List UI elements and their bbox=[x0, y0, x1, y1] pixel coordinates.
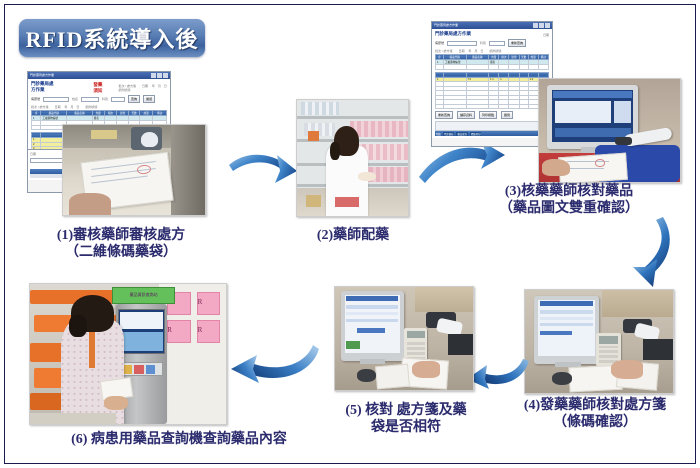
cell bbox=[538, 65, 548, 70]
pharmacist-dispensing-photo bbox=[296, 99, 409, 217]
cell bbox=[443, 104, 466, 109]
dept-label: 科別 bbox=[102, 97, 108, 101]
form-meta-line: 批次 / 處方箋 日期 年 月 日 調劑狀態 bbox=[435, 49, 549, 53]
cell bbox=[499, 65, 509, 70]
save-button[interactable]: 儲存資料 bbox=[457, 111, 475, 119]
table-body[interactable]: 1 7.0 1 1 1 1.0 bbox=[436, 77, 549, 109]
cell bbox=[436, 104, 444, 109]
prescription-paper-photo bbox=[62, 124, 206, 216]
table-body[interactable]: 1 工複藥物編號 藥名 bbox=[436, 60, 549, 70]
dept-input[interactable] bbox=[111, 97, 125, 102]
monitor-scanner-photo bbox=[538, 78, 681, 183]
cell bbox=[489, 65, 499, 70]
caption-step-1: (1)審核藥師審核處方 （二維條碼藥袋） bbox=[31, 227, 211, 261]
cell bbox=[509, 104, 519, 109]
slide-canvas: RFID系統導入後 門診藥局處方作業 門診藥局處方作業 發藥須知 批次 / 處方… bbox=[4, 4, 696, 464]
detail-panel bbox=[435, 121, 549, 131]
patient-input[interactable] bbox=[43, 97, 69, 102]
taskbar-item[interactable]: 藥品查詢 bbox=[456, 132, 468, 136]
cell bbox=[519, 104, 528, 109]
patient-kiosk-photo: R R R R 藥品資訊查詢站 bbox=[29, 283, 227, 425]
name-label: 姓名 bbox=[72, 97, 78, 101]
print-label-button[interactable]: 列印標籤 bbox=[479, 111, 497, 119]
window-title: 門診藥局處方作業 bbox=[30, 72, 54, 79]
cell bbox=[499, 104, 509, 109]
cell bbox=[519, 65, 528, 70]
caption-step-6-line1: (6) 病患用藥品查詢機查詢藥品內容 bbox=[29, 431, 329, 448]
form-fields-row[interactable]: 病歷號 科別 重新查詢 bbox=[435, 39, 549, 47]
poster-label: R bbox=[198, 298, 203, 306]
taskbar-item[interactable]: 標籤列印 bbox=[470, 132, 482, 136]
form-fields-row[interactable]: 病歷號 姓名 科別 查詢 確認 bbox=[31, 95, 167, 103]
patient-input[interactable] bbox=[447, 41, 477, 46]
arrow-step3-to-step4 bbox=[623, 213, 683, 293]
caption-step-5-line2: 袋是否相符 bbox=[311, 419, 501, 436]
poster-label: R bbox=[198, 326, 203, 334]
alert-text: 發藥須知 bbox=[93, 82, 106, 94]
kiosk-sign-text: 藥品資訊查詢站 bbox=[130, 292, 158, 298]
query-button[interactable]: 查詢 bbox=[128, 95, 140, 103]
form-button-bar[interactable]: 重新查詢 儲存資料 列印標籤 關閉 bbox=[435, 111, 549, 119]
caption-step-3-line1: (3)核藥藥師核對藥品 bbox=[457, 183, 681, 200]
verify-table[interactable]: 1 7.0 1 1 1 1.0 bbox=[435, 72, 549, 110]
arrow-step5-to-step6 bbox=[227, 343, 323, 401]
cell bbox=[443, 65, 466, 70]
cell bbox=[489, 104, 499, 109]
patient-label: 病歷號 bbox=[435, 41, 444, 45]
table-row[interactable] bbox=[436, 104, 549, 109]
window-body: 門診藥局處方作業 日期 病歷號 科別 重新查詢 批次 / 處方箋 日期 年 月 … bbox=[432, 29, 552, 138]
window-titlebar: 門診藥局處方作業 bbox=[28, 72, 170, 79]
cell bbox=[509, 65, 519, 70]
verify-counter-photo bbox=[334, 286, 474, 391]
drug-check-screen[interactable]: 門診藥局處方作業 門診藥局處方作業 日期 病歷號 科別 重新查詢 批次 / 處方… bbox=[431, 21, 553, 147]
requery-button[interactable]: 重新查詢 bbox=[435, 111, 453, 119]
cell bbox=[528, 65, 538, 70]
taskbar-start[interactable]: 開始 bbox=[436, 132, 441, 136]
form-title: 門診藥局處方作業 bbox=[31, 81, 57, 93]
form-meta-line: 批次 / 處方箋 日期 年 月 日 調劑狀態 bbox=[31, 105, 167, 109]
requery-button[interactable]: 重新查詢 bbox=[508, 39, 526, 47]
caption-step-4-line2: （條碼確認） bbox=[501, 414, 689, 431]
dispensing-counter-photo bbox=[524, 289, 674, 394]
table-header-row: 序 藥品代碼 藥品名稱 劑量 頻次 途徑 天數 總量 備註 bbox=[32, 111, 167, 116]
dept-input[interactable] bbox=[489, 41, 505, 46]
window-titlebar: 門診藥局處方作業 bbox=[432, 22, 552, 29]
caption-step-2: (2)藥師配藥 bbox=[293, 227, 413, 244]
table-row[interactable] bbox=[436, 65, 549, 70]
prescription-table[interactable]: 序 藥品代碼 藥品名稱 劑量 頻次 途徑 天數 總量 備註 1 工複藥物編號 藥… bbox=[435, 54, 549, 70]
slide-title-banner: RFID系統導入後 bbox=[19, 19, 205, 57]
caption-step-1-line1: (1)審核藥師審核處方 bbox=[31, 227, 211, 244]
name-input[interactable] bbox=[81, 97, 99, 102]
form-meta-right: 日期 bbox=[543, 33, 549, 37]
cell bbox=[528, 104, 538, 109]
taskbar[interactable]: 開始 門診藥局 藥品查詢 標籤列印 bbox=[435, 131, 549, 136]
window-controls[interactable] bbox=[533, 23, 550, 28]
poster-label: R bbox=[167, 326, 172, 334]
secondary-input[interactable] bbox=[30, 158, 64, 163]
table-header-row: 序 藥品代碼 藥品名稱 劑量 頻次 途徑 天數 總量 備註 bbox=[436, 55, 549, 60]
confirm-button[interactable]: 確認 bbox=[143, 95, 155, 103]
cell bbox=[32, 125, 41, 130]
dept-label: 科別 bbox=[480, 41, 486, 45]
caption-step-6: (6) 病患用藥品查詢機查詢藥品內容 bbox=[29, 431, 329, 448]
window-title: 門診藥局處方作業 bbox=[434, 22, 458, 29]
cell bbox=[436, 65, 444, 70]
form-title: 門診藥局處方作業 bbox=[435, 31, 471, 37]
window-controls[interactable] bbox=[151, 73, 168, 78]
cell bbox=[466, 65, 489, 70]
patient-label: 病歷號 bbox=[31, 97, 40, 101]
caption-step-5: (5) 核對 處方箋及藥 袋是否相符 bbox=[311, 402, 501, 436]
form-meta-right: 批次 / 處方箋 日期 年 月 日 調劑狀態 bbox=[118, 84, 167, 92]
caption-step-2-line1: (2)藥師配藥 bbox=[293, 227, 413, 244]
caption-step-5-line1: (5) 核對 處方箋及藥 bbox=[311, 402, 501, 419]
close-button[interactable]: 關閉 bbox=[501, 111, 513, 119]
caption-step-1-line2: （二維條碼藥袋） bbox=[31, 244, 211, 261]
cell bbox=[466, 104, 489, 109]
page-title: RFID系統導入後 bbox=[26, 22, 199, 54]
taskbar-item[interactable]: 門診藥局 bbox=[443, 132, 455, 136]
